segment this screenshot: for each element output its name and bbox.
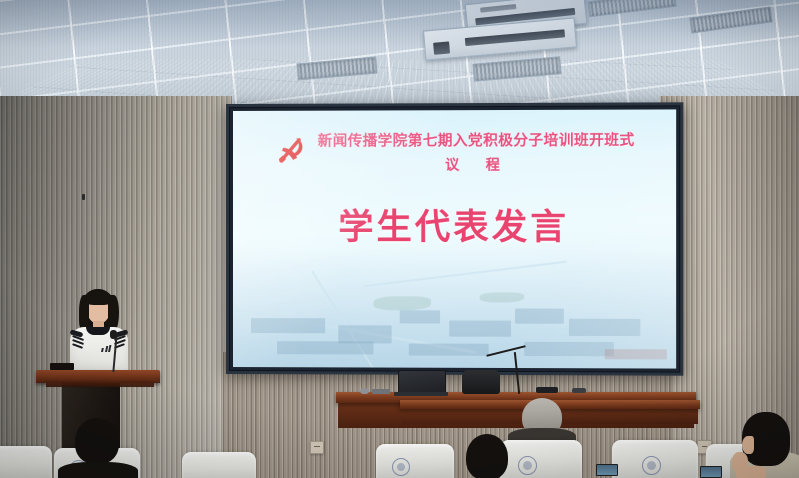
wall-mark-left [82,194,85,200]
presenter-chair [462,370,500,394]
attendee-arm [736,466,766,478]
projection-screen-frame: 新闻传播学院第七期入党积极分子培训班开班式 议 程 学生代表发言 [226,102,683,375]
slide-title: 新闻传播学院第七期入党积极分子培训班开班式 [318,132,635,151]
slide-background-cityscape [233,249,676,368]
attendee-face-profile [742,436,754,454]
slide-main-heading: 学生代表发言 [233,199,676,251]
chair [376,444,454,478]
chair [182,452,256,478]
chair [500,440,582,478]
wall-outlet-left [310,441,324,454]
slide-header: 新闻传播学院第七期入党积极分子培训班开班式 议 程 [233,132,676,175]
speaker-shirt-logo [101,345,110,352]
ceiling-shading [0,0,799,104]
speaker-hair-left [79,295,89,331]
chair-emblem-icon [518,456,537,475]
chair-emblem-icon [392,458,410,476]
attendee-shoulders [58,462,138,478]
chair [612,440,698,478]
ceiling [0,0,799,104]
desk-object [536,387,558,393]
mouse-pad [372,389,390,394]
projection-screen: 新闻传播学院第七期入党积极分子培训班开班式 议 程 学生代表发言 [233,109,676,368]
speaker-figure [63,287,135,375]
attendee-head [466,434,508,478]
cpc-emblem-icon [274,135,308,165]
desk-monitor [700,466,722,478]
lectern-device [50,363,74,370]
slide-subtitle: 议 程 [318,154,635,175]
lecture-hall-photo: 新闻传播学院第七期入党积极分子培训班开班式 议 程 学生代表发言 [0,0,799,478]
computer-mouse [360,388,369,394]
chair-emblem-icon [642,456,661,475]
lectern-edge [46,381,154,387]
chair [0,446,52,478]
microphone-head-icon [110,330,117,339]
desk-object [572,388,586,393]
desk-monitor [596,464,618,476]
laptop-base [394,392,448,396]
